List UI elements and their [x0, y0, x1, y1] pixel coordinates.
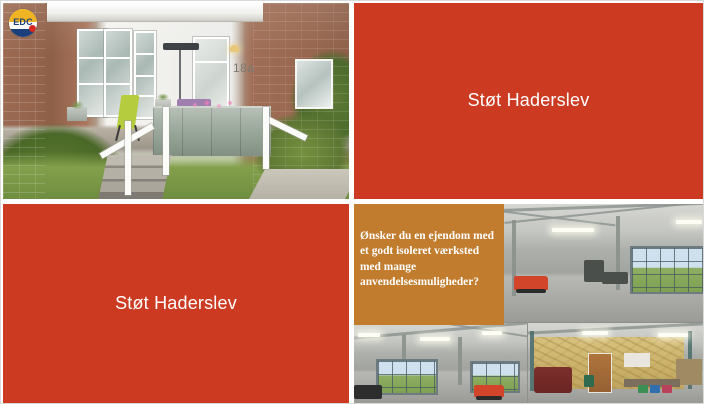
storage-crate [662, 385, 672, 393]
garden-path [249, 169, 349, 199]
ceiling-light [676, 220, 702, 224]
ceiling-light [658, 333, 688, 337]
workshop-scene-right [528, 323, 703, 403]
ceiling-light [358, 333, 380, 337]
patio-heater-icon [163, 43, 199, 50]
roller-door-window [376, 359, 438, 395]
workshop-collage[interactable]: Ønsker du en ejendom med et godt isolere… [354, 204, 703, 403]
edc-logo[interactable]: EDC [9, 9, 37, 37]
terrace-steps [98, 155, 171, 199]
house-photo-scene: 18a [3, 3, 349, 199]
ceiling-light [582, 331, 608, 335]
planter-boxes [153, 106, 271, 156]
property-question-callout: Ønsker du en ejendom med et godt isolere… [354, 204, 504, 325]
interior-door [588, 353, 612, 393]
stot-haderslev-banner-bottom[interactable]: Støt Haderslev [3, 204, 349, 403]
storage-crate [650, 385, 660, 393]
roof-eave [47, 3, 263, 22]
railing-post [163, 107, 169, 175]
storage-crate [638, 385, 648, 393]
plant-pot-left [67, 107, 87, 121]
brick-wall-window [295, 59, 333, 109]
house-number: 18a [233, 61, 255, 75]
house-terrace-photo[interactable]: 18a EDC [3, 3, 349, 199]
ride-on-mower [474, 385, 504, 397]
railing-post [125, 121, 131, 195]
red-tank [534, 367, 572, 393]
railing-post [263, 107, 269, 169]
property-question-text: Ønsker du en ejendom med et godt isolere… [360, 229, 498, 290]
workshop-window [630, 246, 703, 294]
motorcycle [602, 272, 628, 284]
ride-on-mower [514, 276, 548, 290]
storage-crate [584, 375, 594, 387]
pink-flowers [189, 97, 237, 113]
ceiling-light [482, 331, 502, 335]
workshop-scene-left [354, 323, 527, 403]
ad-grid: 18a EDC Støt Ha [0, 0, 704, 404]
workshop-collage-photos: Ønsker du en ejendom med et godt isolere… [354, 204, 703, 403]
ceiling-light [552, 228, 594, 232]
workshop-interior-left[interactable] [354, 323, 527, 403]
stot-haderslev-banner-top[interactable]: Støt Haderslev [354, 3, 703, 199]
stot-haderslev-label-top: Støt Haderslev [468, 90, 590, 112]
edc-logo-text: EDC [9, 17, 37, 27]
wall-poster [624, 353, 650, 367]
machine-unit [584, 260, 604, 282]
steel-column [458, 337, 462, 385]
stot-haderslev-label-bottom: Støt Haderslev [115, 293, 237, 315]
ceiling-light [420, 337, 450, 341]
wall-lamp-icon [230, 45, 239, 52]
workshop-interior-right[interactable] [528, 323, 703, 403]
motorcycle [354, 385, 382, 399]
